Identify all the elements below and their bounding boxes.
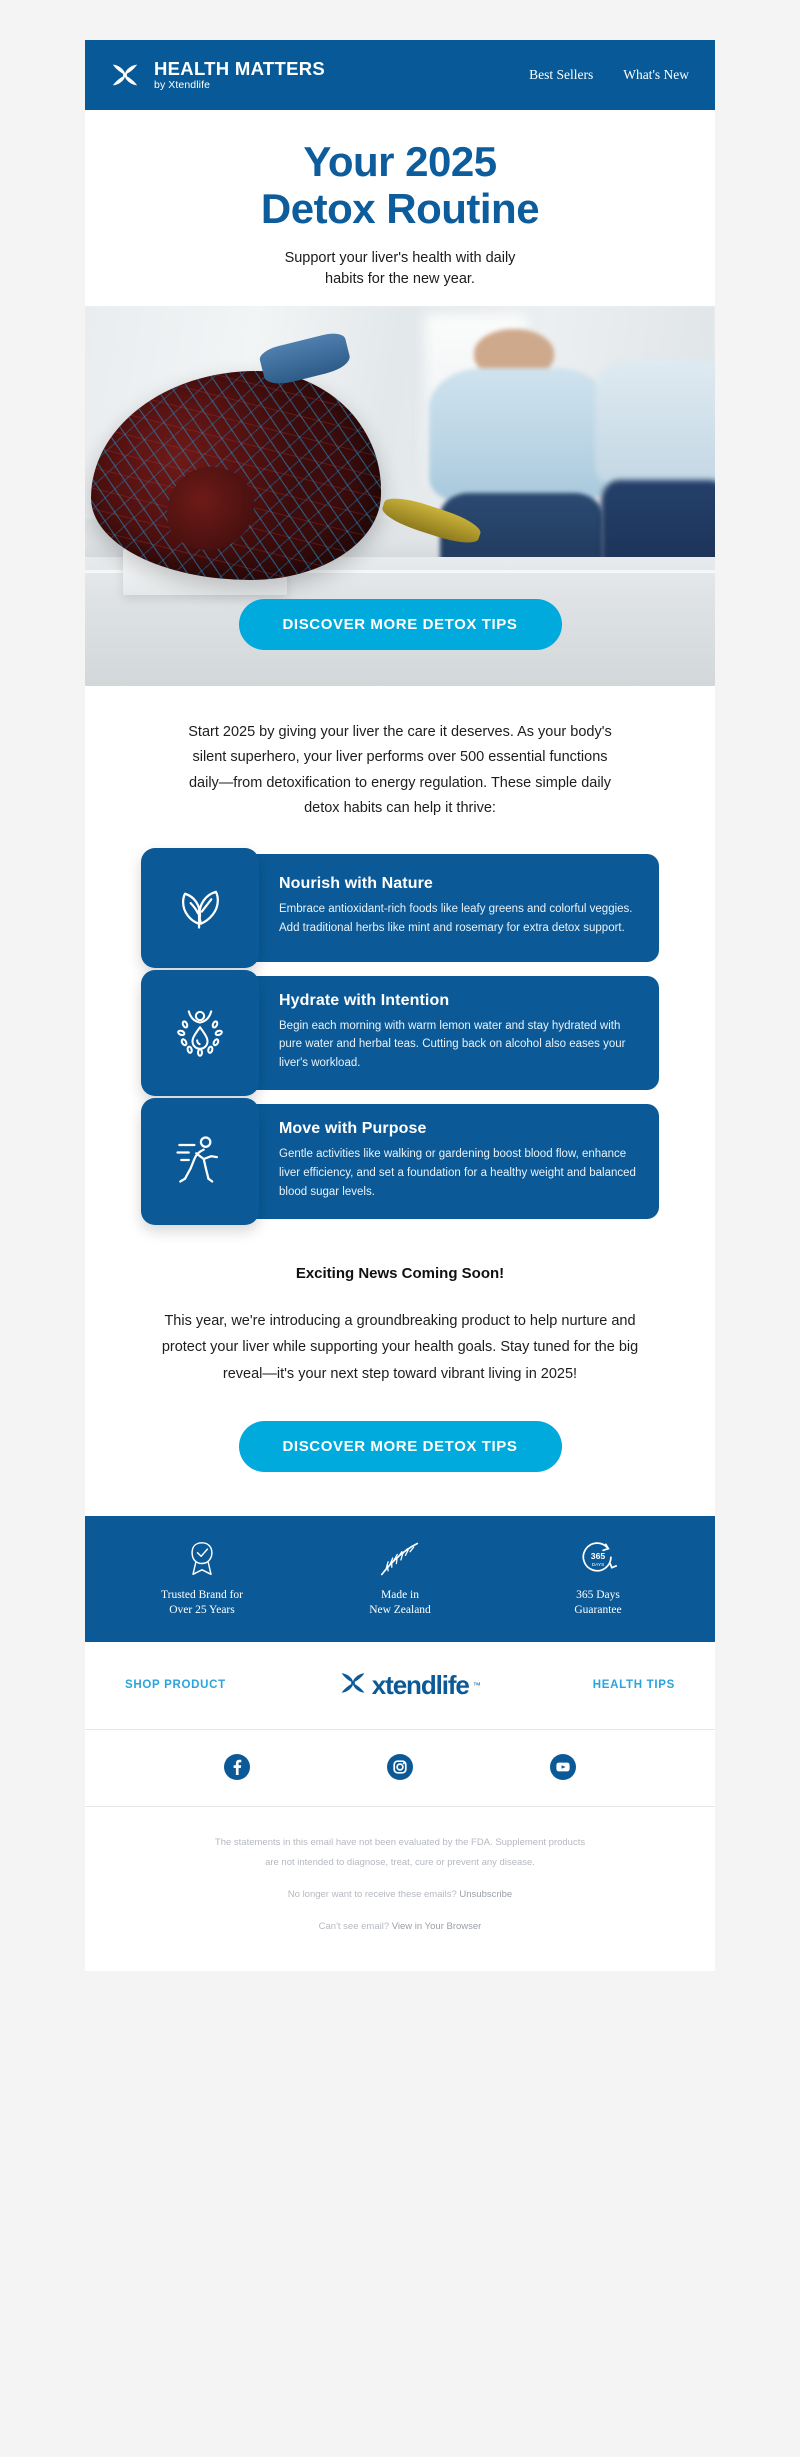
legal-disclaimer-line1: The statements in this email have not be… (145, 1833, 655, 1853)
card-icon-container (141, 1098, 259, 1225)
trust-label-line2: New Zealand (301, 1603, 499, 1618)
footer-nav: SHOP PRODUCT xtendlife ™ HEALTH TIPS (85, 1642, 715, 1730)
email-body: HEALTH MATTERS by Xtendlife Best Sellers… (85, 40, 715, 1971)
card-body: Nourish with Nature Embrace antioxidant-… (245, 854, 659, 962)
hero-title: Your 2025 Detox Routine (85, 138, 715, 232)
trust-badges: Trusted Brand for Over 25 Years Made in … (85, 1516, 715, 1642)
hydration-droplet-icon (170, 1001, 230, 1066)
hero-section: Your 2025 Detox Routine Support your liv… (85, 110, 715, 686)
award-ribbon-check-icon (103, 1538, 301, 1580)
trust-label-line2: Guarantee (499, 1603, 697, 1618)
email-page: HEALTH MATTERS by Xtendlife Best Sellers… (0, 0, 800, 2457)
nav-link-best-sellers[interactable]: Best Sellers (529, 67, 593, 83)
hero-subtitle-line2: habits for the new year. (85, 269, 715, 290)
view-in-browser-prefix: Can't see email? (319, 1921, 392, 1932)
facebook-icon[interactable] (224, 1754, 250, 1780)
trust-badge: Trusted Brand for Over 25 Years (103, 1538, 301, 1618)
leaves-icon (170, 875, 230, 940)
header-nav: Best Sellers What's New (529, 67, 689, 83)
trust-badge-label: 365 Days Guarantee (499, 1588, 697, 1618)
unsubscribe-row: No longer want to receive these emails? … (145, 1885, 655, 1905)
unsubscribe-link[interactable]: Unsubscribe (459, 1889, 512, 1900)
habit-card: Hydrate with Intention Begin each mornin… (141, 976, 659, 1091)
running-person-icon (170, 1129, 230, 1194)
brand-subtitle: by Xtendlife (154, 80, 325, 91)
social-links (85, 1730, 715, 1807)
card-title: Nourish with Nature (279, 875, 637, 893)
hero-subtitle: Support your liver's health with daily h… (85, 248, 715, 290)
svg-text:365: 365 (591, 1551, 606, 1561)
news-cta-wrapper: DISCOVER MORE DETOX TIPS (85, 1387, 715, 1516)
trust-badge: 365 DAYS 365 Days Guarantee (499, 1538, 697, 1618)
card-title: Move with Purpose (279, 1120, 637, 1138)
trust-badge-label: Trusted Brand for Over 25 Years (103, 1588, 301, 1618)
detox-habit-cards: Nourish with Nature Embrace antioxidant-… (85, 828, 715, 1244)
card-text: Embrace antioxidant-rich foods like leaf… (279, 900, 637, 937)
intro-paragraph: Start 2025 by giving your liver the care… (181, 720, 619, 822)
footer-logo[interactable]: xtendlife ™ (338, 1668, 481, 1703)
card-text: Begin each morning with warm lemon water… (279, 1017, 637, 1073)
hero-title-line1: Your 2025 (85, 138, 715, 185)
hero-cta-wrapper: DISCOVER MORE DETOX TIPS (85, 599, 715, 650)
footer-link-shop-product[interactable]: SHOP PRODUCT (125, 1679, 226, 1691)
xtendlife-butterfly-logo-icon (338, 1668, 368, 1703)
brand-lockup: HEALTH MATTERS by Xtendlife (109, 59, 325, 91)
youtube-icon[interactable] (550, 1754, 576, 1780)
card-text: Gentle activities like walking or garden… (279, 1145, 637, 1201)
card-icon-container (141, 970, 259, 1097)
hero-image: DISCOVER MORE DETOX TIPS (85, 306, 715, 686)
365-days-badge-icon: 365 DAYS (499, 1538, 697, 1580)
silver-fern-icon (301, 1538, 499, 1580)
news-discover-tips-button[interactable]: DISCOVER MORE DETOX TIPS (239, 1421, 562, 1472)
card-body: Move with Purpose Gentle activities like… (245, 1104, 659, 1219)
trust-badge-label: Made in New Zealand (301, 1588, 499, 1618)
xtendlife-butterfly-logo-icon (109, 59, 141, 91)
footer-link-health-tips[interactable]: HEALTH TIPS (593, 1679, 675, 1691)
card-body: Hydrate with Intention Begin each mornin… (245, 976, 659, 1091)
trademark-symbol: ™ (473, 1681, 481, 1690)
news-paragraph: This year, we're introducing a groundbre… (155, 1308, 645, 1386)
nav-link-whats-new[interactable]: What's New (623, 67, 689, 83)
brand-text: HEALTH MATTERS by Xtendlife (154, 59, 325, 90)
trust-label-line1: Trusted Brand for (103, 1588, 301, 1603)
legal-footer: The statements in this email have not be… (85, 1807, 715, 1971)
card-title: Hydrate with Intention (279, 992, 637, 1010)
hero-subtitle-line1: Support your liver's health with daily (85, 248, 715, 269)
habit-card: Move with Purpose Gentle activities like… (141, 1104, 659, 1219)
card-icon-container (141, 848, 259, 968)
view-in-browser-row: Can't see email? View in Your Browser (145, 1917, 655, 1937)
brand-title: HEALTH MATTERS (154, 59, 325, 78)
view-in-browser-link[interactable]: View in Your Browser (392, 1921, 482, 1932)
legal-disclaimer-line2: are not intended to diagnose, treat, cur… (145, 1853, 655, 1873)
unsubscribe-prefix: No longer want to receive these emails? (288, 1889, 460, 1900)
footer-logo-wordmark: xtendlife (372, 1670, 469, 1701)
email-header: HEALTH MATTERS by Xtendlife Best Sellers… (85, 40, 715, 110)
habit-card: Nourish with Nature Embrace antioxidant-… (141, 854, 659, 962)
svg-text:DAYS: DAYS (592, 1562, 605, 1568)
intro-section: Start 2025 by giving your liver the care… (85, 686, 715, 828)
trust-label-line1: Made in (301, 1588, 499, 1603)
trust-label-line2: Over 25 Years (103, 1603, 301, 1618)
trust-badge: Made in New Zealand (301, 1538, 499, 1618)
news-title: Exciting News Coming Soon! (155, 1265, 645, 1282)
hero-discover-tips-button[interactable]: DISCOVER MORE DETOX TIPS (239, 599, 562, 650)
instagram-icon[interactable] (387, 1754, 413, 1780)
hero-title-line2: Detox Routine (85, 185, 715, 232)
news-section: Exciting News Coming Soon! This year, we… (85, 1243, 715, 1386)
trust-label-line1: 365 Days (499, 1588, 697, 1603)
